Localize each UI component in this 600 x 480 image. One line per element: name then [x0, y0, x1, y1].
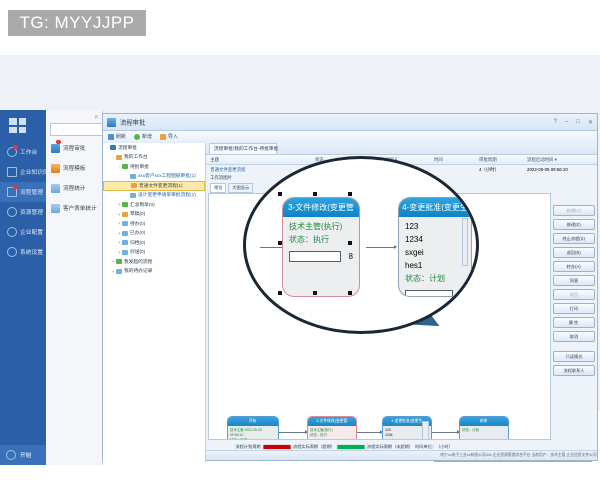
sidebar-item-label: 资源管理	[20, 208, 43, 216]
plus-icon	[134, 134, 140, 140]
magnified-node-file-modify[interactable]: 3-文件修改(变更管 技术主管(执行) 状态：执行 8	[282, 197, 360, 297]
badge-dot	[13, 145, 18, 149]
flow-arrow-magnified	[260, 247, 284, 248]
tree-node[interactable]: + 我的待办记录	[103, 267, 205, 277]
window-icon	[107, 118, 116, 127]
magnified-node-change-approval[interactable]: 4-变更批准(变更生 123 1234 sxgei hes1 状态：计划 8	[398, 197, 472, 297]
legend-label-unit: 时间单位：（小时）	[415, 443, 453, 449]
folder-icon	[122, 212, 128, 217]
button-label: 流程联系人	[564, 367, 585, 373]
menu-item-label: 流程统计	[63, 184, 85, 192]
node-progress-bar	[405, 290, 453, 297]
tree-node[interactable]: - 流程审批	[103, 143, 205, 153]
new-button[interactable]: 新增(C)	[553, 205, 595, 216]
node-line: 技术主管(执行)	[310, 428, 354, 432]
button-label: 打印	[570, 305, 578, 311]
column-header-start-time[interactable]: 流程启动时间 ▾	[527, 156, 600, 162]
legend-swatch-ontime	[337, 444, 364, 448]
folder-icon	[122, 221, 128, 226]
close-button[interactable]: ✕	[588, 119, 593, 126]
sidebar-item-system-settings[interactable]: 系统设置	[0, 242, 46, 262]
node-scrollbar[interactable]	[462, 218, 468, 266]
start-button[interactable]: 开始	[0, 445, 46, 465]
cancel-button[interactable]: 取消	[553, 331, 595, 342]
transfer-button[interactable]: 转办(A)	[553, 261, 595, 272]
node-header: 3-文件修改(变更管	[283, 198, 359, 217]
folder-icon	[116, 155, 122, 160]
start-label: 开始	[20, 451, 32, 459]
tab-pending-approval[interactable]: 流程审批\我的工作台-待批审批	[209, 143, 277, 154]
sidebar-item-label: 工作台	[20, 148, 37, 156]
tree-node[interactable]: + 已办(0)	[103, 229, 205, 239]
rail-item-list: 工作台 企业知识库 流程管理 资源管理 企业配置 系统设置	[0, 142, 46, 262]
legend-label-overdue: 流程实际周期（超期）	[293, 443, 335, 449]
sidebar-item-label: 系统设置	[20, 248, 43, 256]
print-button[interactable]: 打印	[553, 303, 595, 314]
tree-node-label: 我的工作台	[124, 154, 148, 161]
menu-item-customer-form-stats[interactable]: 客户表单统计	[46, 198, 102, 218]
column-header-period[interactable]: 审批周期	[479, 156, 529, 162]
legend-swatch-overdue	[263, 444, 290, 448]
tree-node[interactable]: xxx客户xxx工程图纸审批(1)	[103, 172, 205, 182]
legend-label-duration: 流程计划周期	[235, 443, 260, 449]
status-bar-text: 南宁xx电子工业xx有限公司DM-企业资源管理综合平台 当前用户：技术主管 企业…	[440, 453, 596, 458]
button-label: 转办(A)	[567, 263, 581, 269]
flow-node-change-approval[interactable]: 4-变更批准(变更生 123 1234 sxgei hes1 状态：计划	[382, 416, 432, 440]
node-line: 09:56:10	[230, 433, 276, 437]
properties-button[interactable]: 属 性	[553, 317, 595, 328]
flow-node-start[interactable]: 开始 技术主管 2022-05-05 09:56:10 状态：完成	[227, 416, 279, 440]
node-title: 3-文件修改(变更管	[316, 419, 347, 424]
tab-label: 大图显示	[232, 185, 249, 191]
import-button[interactable]: 导入	[160, 134, 177, 140]
button-label: 属 性	[569, 319, 579, 325]
tab-label: 预览	[214, 185, 222, 191]
status-bar: 南宁xx电子工业xx有限公司DM-企业资源管理综合平台 当前用户：技术主管 企业…	[206, 450, 597, 460]
tree-node-label: 我发起的流程	[124, 258, 152, 265]
node-progress-bar	[310, 439, 338, 440]
watermark-top-left: TG: MYYJJPP	[8, 10, 146, 36]
app-logo-icon	[9, 118, 26, 133]
application-root: 工作台 企业知识库 流程管理 资源管理 企业配置 系统设置	[0, 55, 600, 410]
sidebar-item-knowledge[interactable]: 企业知识库	[0, 162, 46, 182]
selection-handle[interactable]	[278, 241, 282, 245]
template-icon	[51, 164, 60, 173]
window-controls: ? – □ ✕	[554, 119, 593, 126]
import-icon	[160, 134, 166, 140]
tree-node-selected[interactable]: 普通文件变更流程(1)	[103, 181, 205, 191]
add-label: 新增	[142, 134, 152, 141]
node-title: 结束	[480, 419, 488, 424]
tree-node-label: 草稿(0)	[130, 211, 145, 218]
menu-item-process-approval[interactable]: 流程审批	[46, 138, 102, 158]
tree-node-label: 待批审批	[130, 163, 149, 170]
menu-item-label: 流程审批	[63, 144, 85, 152]
button-label: 新增(C)	[567, 207, 581, 213]
column-header-subject[interactable]: 主题	[206, 156, 320, 162]
node-badge: 8	[349, 252, 353, 261]
sidebar-item-workbench[interactable]: 工作台	[0, 142, 46, 162]
folder-icon	[116, 259, 122, 264]
refresh-label: 刷新	[116, 134, 126, 141]
approval-icon	[51, 144, 60, 153]
file-icon	[130, 174, 136, 179]
menu-item-process-template[interactable]: 流程模板	[46, 158, 102, 178]
selection-handle[interactable]	[278, 291, 282, 295]
sidebar-item-process[interactable]: 流程管理	[0, 182, 46, 202]
node-body: 状态：计划	[460, 426, 508, 432]
flow-node-end[interactable]: 结束 状态：计划	[459, 416, 509, 440]
node-line: 技术主管 2022-05-05	[230, 428, 276, 432]
flow-arrow	[277, 432, 307, 433]
sidebar-item-resource[interactable]: 资源管理	[0, 202, 46, 222]
sidebar-item-label: 流程管理	[20, 188, 43, 196]
tree-node-label: xxx客户xxx工程图纸审批(1)	[138, 173, 196, 180]
folder-icon	[122, 250, 128, 255]
node-header: 结束	[460, 417, 508, 426]
readonly-mode-button[interactable]: 只读模式	[553, 351, 595, 362]
folder-icon	[122, 231, 128, 236]
node-header: 4-变更批准(变更生	[399, 198, 471, 217]
tree-node-label: 抄送(0)	[130, 249, 145, 256]
resource-icon	[7, 207, 17, 217]
tree-node-label: 设计变更申请单审批流程(1)	[138, 192, 196, 199]
window-title-bar: 流程审批 ? – □ ✕	[103, 114, 597, 131]
tree-node-label: 已办(0)	[130, 230, 145, 237]
start-icon	[6, 450, 16, 460]
tree-node-label: 流程审批	[118, 144, 137, 151]
add-button[interactable]: 新增	[134, 134, 151, 140]
tree-node[interactable]: + 草稿(0)	[103, 210, 205, 220]
node-item: sxgei	[405, 247, 465, 258]
selection-handle[interactable]	[348, 241, 352, 245]
node-line-assignee: 技术主管(执行)	[289, 221, 353, 232]
node-item: 123	[405, 221, 465, 232]
tree-node[interactable]: - 我的工作台	[103, 153, 205, 163]
window-title: 流程审批	[120, 117, 145, 126]
flow-node-file-modify[interactable]: 3-文件修改(变更管 技术主管(执行) 状态：执行	[307, 416, 357, 440]
search-input[interactable]	[50, 123, 104, 136]
badge-dot	[13, 185, 18, 189]
edit-button[interactable]: 修改(E)	[553, 219, 595, 230]
sidebar-item-label: 企业知识库	[20, 168, 49, 176]
import-label: 导入	[168, 134, 178, 141]
minimize-button[interactable]: –	[565, 119, 568, 125]
return-button[interactable]: 退回(B)	[553, 247, 595, 258]
tree-node[interactable]: + 抄送(0)	[103, 248, 205, 258]
node-badge: 8	[461, 291, 465, 297]
button-label: 退回(B)	[567, 249, 581, 255]
tree-node[interactable]: + 汇总制单(0)	[103, 200, 205, 210]
node-title: 4-变更批准(变更生	[391, 419, 422, 424]
approve-button[interactable]: 同意	[553, 275, 595, 286]
menu-item-label: 流程模板	[63, 164, 85, 172]
process-contacts-button[interactable]: 流程联系人	[553, 365, 595, 376]
node-body: 123 1234 sxgei hes1 状态：计划 8	[399, 217, 471, 297]
menu-item-list: 流程审批 流程模板 流程统计 客户表单统计	[46, 138, 102, 218]
node-title: 4-变更批准(变更生	[402, 202, 468, 213]
magnifier-lens: 3-文件修改(变更管 技术主管(执行) 状态：执行 8 4-变更批准(变更生 1…	[243, 156, 479, 334]
node-progress-bar	[289, 251, 341, 262]
form-icon	[51, 204, 60, 213]
node-title: 开始	[249, 419, 257, 424]
flow-arrow	[354, 432, 382, 433]
secondary-menu-panel: ⇱ 流程审批 流程模板 流程统计 客户表单统计	[46, 110, 103, 465]
selection-handle[interactable]	[313, 291, 317, 295]
menu-item-process-stats[interactable]: 流程统计	[46, 178, 102, 198]
book-icon	[7, 167, 17, 177]
folder-icon	[122, 202, 128, 207]
sidebar-item-label: 企业配置	[20, 228, 43, 236]
refresh-icon	[108, 134, 114, 140]
tree-node[interactable]: + 我发起的流程	[103, 257, 205, 267]
file-icon	[130, 193, 136, 198]
section-title-label: 工作流图片	[210, 175, 232, 181]
tab-large-view[interactable]: 大图显示	[228, 183, 253, 193]
primary-nav-rail: 工作台 企业知识库 流程管理 资源管理 企业配置 系统设置	[0, 110, 46, 465]
tree-node[interactable]: 设计变更申请单审批流程(1)	[103, 191, 205, 201]
flow-arrow	[431, 432, 459, 433]
selection-handle[interactable]	[348, 192, 352, 196]
tree-node-label: 普通文件变更流程(1)	[139, 182, 183, 189]
node-body: 技术主管 2022-05-05 09:56:10 状态：完成	[228, 426, 278, 440]
button-label: 同意	[570, 277, 578, 283]
navigation-tree[interactable]: - 流程审批 - 我的工作台 - 待批审批 xxx客户xxx工程图纸审批(1)	[103, 143, 206, 462]
config-icon	[7, 227, 17, 237]
button-label: 驳回	[570, 291, 578, 297]
tree-node-label: 待办(0)	[130, 220, 145, 227]
refresh-button[interactable]: 刷新	[108, 134, 125, 140]
sidebar-item-enterprise-config[interactable]: 企业配置	[0, 222, 46, 242]
folder-icon	[122, 164, 128, 169]
node-line-status: 状态：执行	[289, 234, 353, 245]
tab-preview[interactable]: 预览	[210, 183, 226, 193]
flow-arrow-magnified	[366, 247, 396, 248]
maximize-button[interactable]: □	[576, 119, 580, 125]
node-line: 状态：完成	[230, 438, 276, 440]
selection-handle[interactable]	[278, 192, 282, 196]
node-body: 技术主管(执行) 状态：执行	[308, 426, 356, 440]
node-line: 状态：执行	[310, 433, 354, 437]
menu-item-label: 客户表单统计	[63, 204, 97, 212]
action-button-stack: 新增(C) 修改(E) 终止流程(S) 退回(B) 转办(A) 同意 驳回 打印…	[553, 205, 595, 379]
tree-node-label: 归档(0)	[130, 239, 145, 246]
tab-label: 流程审批\我的工作台-待批审批	[214, 146, 278, 153]
button-label: 取消	[570, 333, 578, 339]
button-label: 修改(E)	[567, 221, 581, 227]
node-item: 1234	[405, 234, 465, 245]
collapse-icon[interactable]: ⇱	[95, 115, 99, 121]
button-label: 只读模式	[566, 353, 583, 359]
reject-button[interactable]: 驳回	[553, 289, 595, 300]
badge-dot	[56, 140, 61, 144]
cell-period: 4（小时）	[479, 166, 529, 172]
file-icon	[131, 183, 137, 188]
tree-node[interactable]: + 归档(0)	[103, 238, 205, 248]
tree-node[interactable]: + 待办(0)	[103, 219, 205, 229]
tree-node-label: 我的待办记录	[124, 268, 152, 275]
selection-handle[interactable]	[348, 291, 352, 295]
folder-icon	[116, 269, 122, 274]
button-label: 终止流程(S)	[563, 235, 585, 241]
terminate-process-button[interactable]: 终止流程(S)	[553, 233, 595, 244]
node-header: 3-文件修改(变更管	[308, 417, 356, 426]
folder-icon	[110, 145, 116, 150]
tree-node[interactable]: - 待批审批	[103, 162, 205, 172]
node-header: 开始	[228, 417, 278, 426]
selection-handle[interactable]	[313, 192, 317, 196]
tree-node-label: 汇总制单(0)	[130, 201, 155, 208]
folder-icon	[122, 240, 128, 245]
help-button[interactable]: ?	[554, 119, 557, 125]
node-title: 3-文件修改(变更管	[288, 202, 354, 213]
cell-start-time: 2022-05-05 09:56:10	[527, 167, 600, 172]
node-line: 状态：计划	[462, 428, 506, 432]
node-scrollbar[interactable]	[422, 421, 429, 440]
node-item: hes1	[405, 260, 465, 271]
legend-label-ontime: 流程实际周期（未超期）	[367, 443, 413, 449]
tab-strip: 流程审批\我的工作台-待批审批	[206, 143, 597, 155]
chart-icon	[51, 184, 60, 193]
gear-icon	[7, 247, 17, 257]
column-header-time[interactable]: 时间	[434, 156, 481, 162]
node-line-status: 状态：计划	[405, 273, 465, 284]
